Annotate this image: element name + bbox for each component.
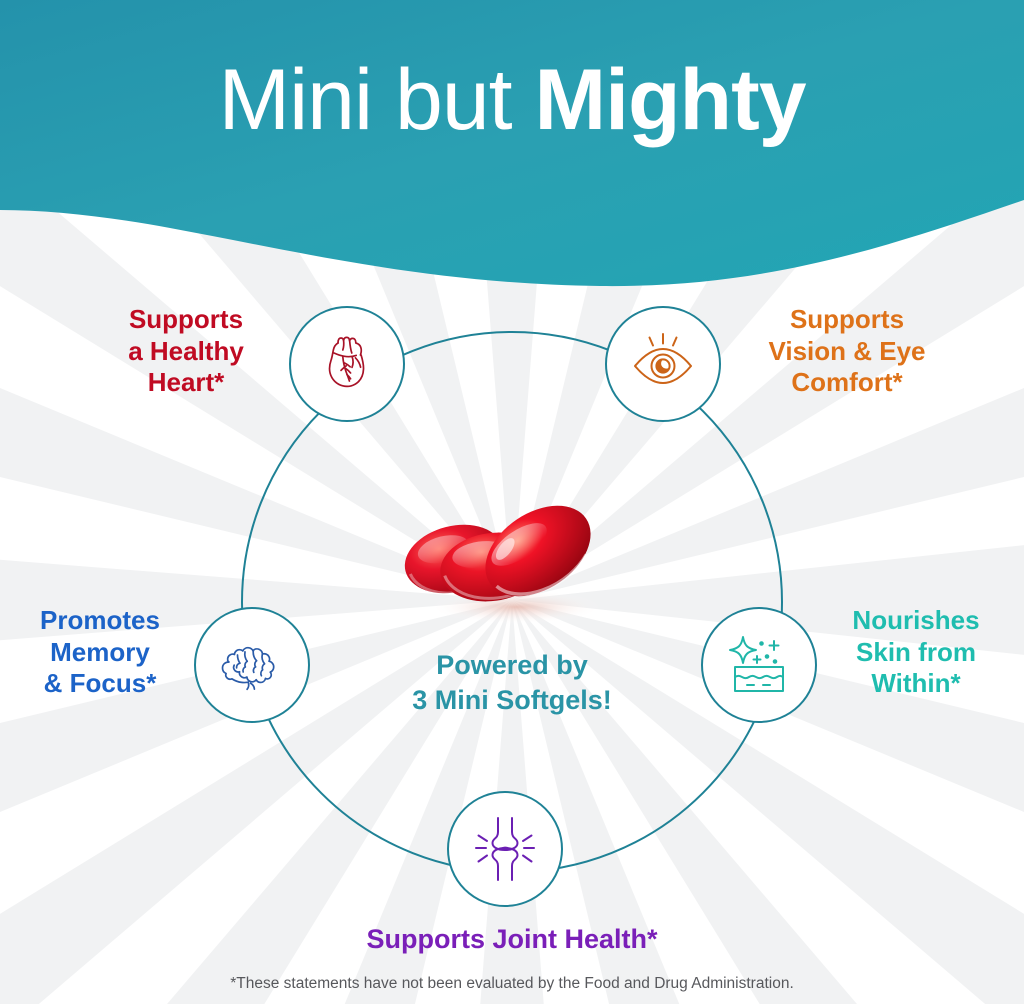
benefit-node-brain[interactable] [194,607,310,723]
benefit-node-joint[interactable] [447,791,563,907]
center-claim-text: Powered by 3 Mini Softgels! [362,648,662,717]
softgel-capsules-image [388,455,640,635]
benefit-label-skin: Nourishes Skin from Within* [826,605,1006,700]
benefit-label-eye: Supports Vision & Eye Comfort* [738,304,956,399]
benefit-node-skin[interactable] [701,607,817,723]
benefit-node-heart[interactable] [289,306,405,422]
benefit-label-heart: Supports a Healthy Heart* [92,304,280,399]
benefit-node-eye[interactable] [605,306,721,422]
eye-icon [627,328,699,400]
benefit-label-joint: Supports Joint Health* [262,923,762,956]
benefit-label-brain: Promotes Memory & Focus* [12,605,188,700]
knee-joint-icon [468,812,542,886]
brain-icon [215,628,289,702]
heart-icon [312,329,382,399]
infographic-canvas: Mini but Mighty [0,0,1024,1004]
skin-sparkle-icon [723,629,795,701]
fda-disclaimer: *These statements have not been evaluate… [0,975,1024,993]
